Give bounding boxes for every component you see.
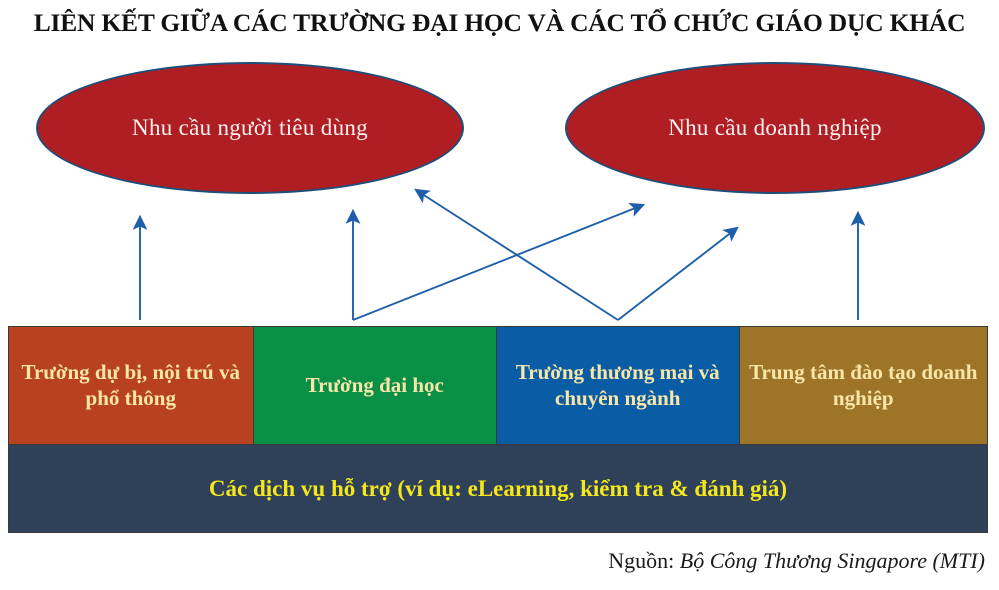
institution-cell-corporate-label: Trung tâm đào tạo doanh nghiệp [748,360,979,411]
source-note-label: Nguồn: [608,548,674,573]
page-title: LIÊN KẾT GIỮA CÁC TRƯỜNG ĐẠI HỌC VÀ CÁC … [0,8,999,38]
institution-stack: Trường dự bị, nội trú và phổ thông Trườn… [8,326,988,533]
institution-cell-university-label: Trường đại học [306,373,444,399]
diagram-canvas: LIÊN KẾT GIỮA CÁC TRƯỜNG ĐẠI HỌC VÀ CÁC … [0,0,999,590]
institution-cell-corporate[interactable]: Trung tâm đào tạo doanh nghiệp [740,327,987,444]
institution-cell-prep[interactable]: Trường dự bị, nội trú và phổ thông [9,327,254,444]
support-services-bar[interactable]: Các dịch vụ hỗ trợ (ví dụ: eLearning, ki… [8,445,988,533]
demand-node-business[interactable]: Nhu cầu doanh nghiệp [565,62,985,194]
arrow-univ-to-business [353,205,643,320]
support-services-label: Các dịch vụ hỗ trợ (ví dụ: eLearning, ki… [209,476,787,502]
demand-node-consumer[interactable]: Nhu cầu người tiêu dùng [36,62,464,194]
demand-node-business-label: Nhu cầu doanh nghiệp [668,115,882,141]
demand-node-consumer-label: Nhu cầu người tiêu dùng [132,115,368,141]
institution-cell-commerce[interactable]: Trường thương mại và chuyên ngành [497,327,740,444]
institution-cell-university[interactable]: Trường đại học [254,327,498,444]
institution-cell-commerce-label: Trường thương mại và chuyên ngành [505,360,731,411]
arrow-commerce-to-business [618,228,737,320]
arrow-commerce-to-consumer [416,190,618,320]
institution-cell-prep-label: Trường dự bị, nội trú và phổ thông [17,360,245,411]
source-note: Nguồn: Bộ Công Thương Singapore (MTI) [608,548,985,574]
source-note-value: Bộ Công Thương Singapore (MTI) [680,548,985,573]
institution-row: Trường dự bị, nội trú và phổ thông Trườn… [8,326,988,445]
